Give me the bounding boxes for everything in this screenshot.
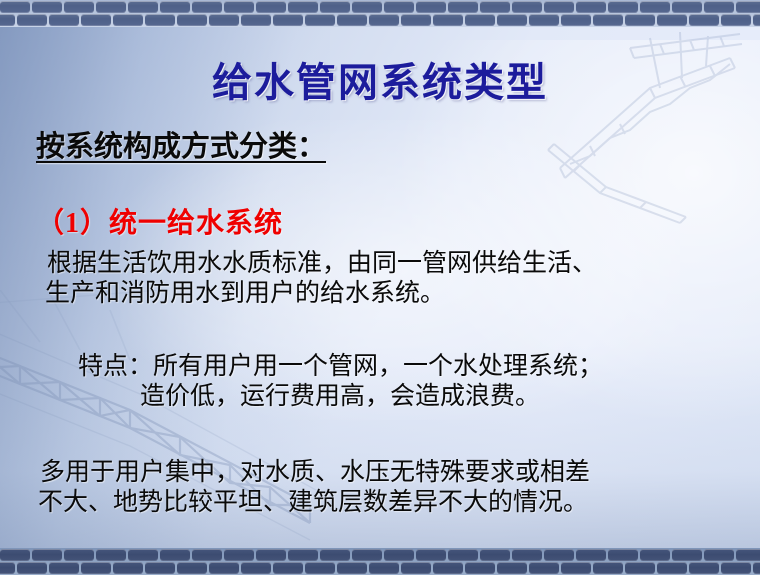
presentation-slide: 给水管网系统类型 按系统构成方式分类： （1）统一给水系统 根据生活饮用水水质标…	[0, 0, 760, 575]
slide-content: 给水管网系统类型 按系统构成方式分类： （1）统一给水系统 根据生活饮用水水质标…	[0, 0, 760, 575]
paragraph-definition-line-2: 生产和消防用水到用户的给水系统。	[45, 279, 597, 309]
paragraph-usage-line-2: 不大、地势比较平坦、建筑层数差异不大的情况。	[38, 488, 590, 518]
paragraph-definition: 根据生活饮用水水质标准，由同一管网供给生活、 生产和消防用水到用户的给水系统。	[47, 249, 597, 309]
paragraph-definition-line-1: 根据生活饮用水水质标准，由同一管网供给生活、	[47, 249, 597, 279]
section-heading-unified-supply: （1）统一给水系统	[36, 201, 283, 241]
paragraph-features-line-2: 造价低，运行费用高，会造成浪费。	[140, 382, 603, 412]
paragraph-features: 特点：所有用户用一个管网，一个水处理系统； 造价低，运行费用高，会造成浪费。	[78, 352, 603, 412]
paragraph-usage-line-1: 多用于用户集中，对水质、水压无特殊要求或相差	[40, 458, 590, 488]
paragraph-features-line-1: 特点：所有用户用一个管网，一个水处理系统；	[78, 352, 603, 382]
paragraph-usage: 多用于用户集中，对水质、水压无特殊要求或相差 不大、地势比较平坦、建筑层数差异不…	[40, 458, 590, 518]
slide-title: 给水管网系统类型	[0, 50, 760, 108]
slide-subheading: 按系统构成方式分类：	[36, 123, 326, 165]
